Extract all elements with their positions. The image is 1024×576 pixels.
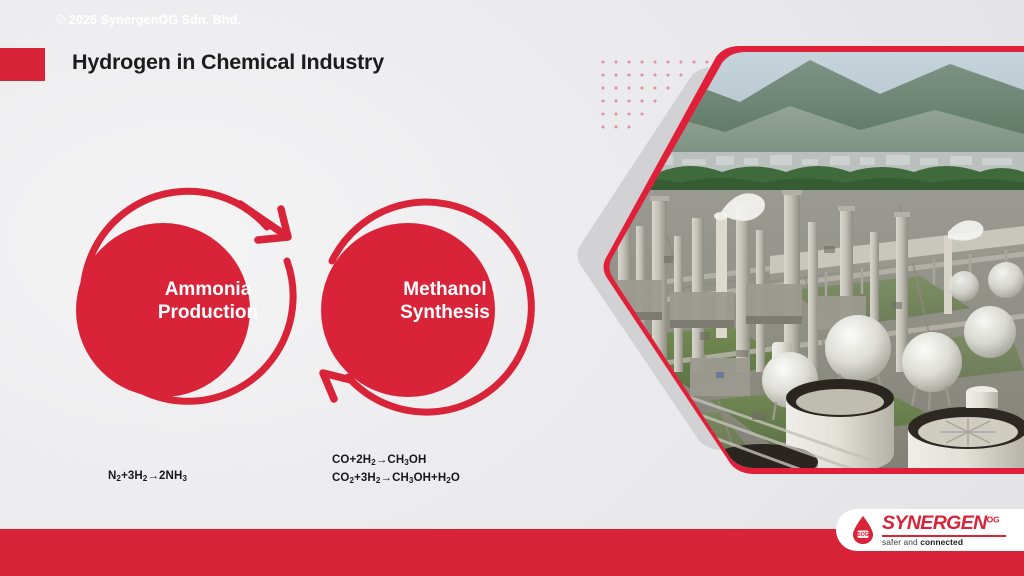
page-title: Hydrogen in Chemical Industry xyxy=(72,50,384,75)
cycle-diagram: Ammonia Production Methanol Synthesis xyxy=(55,165,555,435)
methanol-formula-line2: CO2+3H2→CH3OH+H2O xyxy=(332,470,460,488)
ammonia-label-line2: Production xyxy=(118,301,298,324)
synergen-logo[interactable]: SOG SYNERGENOG safer and connected xyxy=(836,509,1024,551)
logo-tagline-plain: safer and xyxy=(882,537,920,547)
logo-tagline-bold: connected xyxy=(920,537,963,547)
methanol-formula-line1: CO+2H2→CH3OH xyxy=(332,452,460,470)
methanol-label-line1: Methanol xyxy=(355,278,535,301)
footer-copyright: © 2025 SynergenOG Sdn. Bhd. xyxy=(56,13,241,27)
logo-superscript: OG xyxy=(987,515,1000,525)
photo-panel-svg xyxy=(540,40,1024,490)
title-accent-bar xyxy=(0,48,45,81)
svg-text:SOG: SOG xyxy=(857,532,869,538)
slide-root: Hydrogen in Chemical Industry Ammonia Pr… xyxy=(0,0,1024,576)
logo-text-block: SYNERGENOG safer and connected xyxy=(882,513,1006,547)
logo-wordmark: SYNERGEN xyxy=(882,514,987,534)
logo-tagline: safer and connected xyxy=(882,538,1006,547)
photo-panel xyxy=(540,40,1024,490)
bottom-arrow-head-icon xyxy=(323,373,351,399)
droplet-icon: SOG xyxy=(850,515,876,545)
top-arrow-head-icon xyxy=(240,204,288,240)
refinery-photo xyxy=(540,40,1024,490)
methanol-label-line2: Synthesis xyxy=(355,301,535,324)
methanol-formulas: CO+2H2→CH3OH CO2+3H2→CH3OH+H2O xyxy=(332,452,460,488)
methanol-node-label: Methanol Synthesis xyxy=(355,278,535,325)
ammonia-label-line1: Ammonia xyxy=(118,278,298,301)
copyright-icon: © xyxy=(56,13,65,27)
ammonia-formula-text: N2+3H2→2NH3 xyxy=(108,470,187,482)
ammonia-node-label: Ammonia Production xyxy=(118,278,298,325)
footer-copyright-text: 2025 SynergenOG Sdn. Bhd. xyxy=(69,13,241,27)
ammonia-formula: N2+3H2→2NH3 xyxy=(108,470,187,483)
